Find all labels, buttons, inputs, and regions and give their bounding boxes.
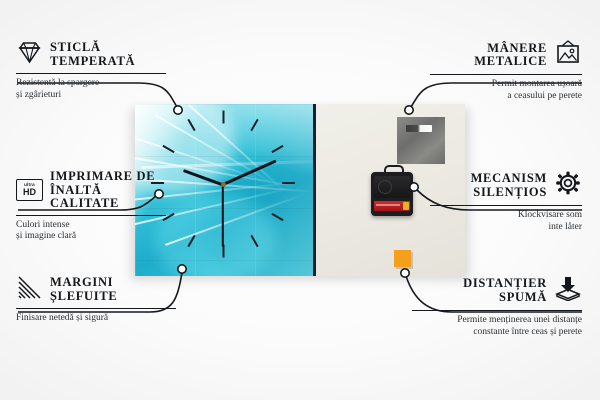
callout-sub-line2: și imagine clară: [16, 231, 166, 243]
gear-icon: [554, 170, 582, 201]
callout-mecanism-silentios: MECANISM SILENȚIOS: [430, 170, 582, 233]
foam-spacer-pad: [394, 250, 411, 267]
ultra-hd-icon: ultra HD: [16, 179, 43, 201]
callout-sub-line2: și zgârieturi: [16, 90, 166, 102]
callout-rule: [16, 73, 166, 74]
callout-distantier-spuma: DISTANȚIER SPUMĂ Permite menținerea unei…: [412, 275, 582, 338]
callout-sub-line1: Rezistentă la spargere: [16, 78, 166, 90]
callout-title-line1: MECANISM: [471, 172, 547, 186]
hd-badge-main: HD: [23, 188, 36, 198]
hanger-loop: [384, 165, 404, 176]
callout-margini-slefuite: MARGINI ȘLEFUITE Finisare netedă și sigu…: [16, 275, 176, 325]
callout-sub-line1: Finisare netedă și sigură: [16, 313, 176, 325]
callout-sub-line2: inte låter: [430, 222, 582, 234]
callout-rule: [16, 308, 176, 309]
callout-sub-line1: Culori intense: [16, 220, 166, 232]
clock-mechanism: [371, 172, 413, 216]
callout-rule: [16, 215, 166, 216]
callout-sub-line2: a ceasului pe perete: [430, 91, 582, 103]
arrow-onto-pad-icon: [554, 275, 582, 306]
callout-sticla-temperata: STICLĂ TEMPERATĂ Rezistentă la spargere …: [16, 40, 166, 101]
callout-title-line1: MARGINI: [50, 276, 117, 290]
infographic-stage: STICLĂ TEMPERATĂ Rezistentă la spargere …: [0, 0, 600, 400]
battery-terminal: [403, 202, 409, 210]
clock-tick: [223, 111, 225, 124]
callout-title-line2: METALICE: [474, 55, 547, 69]
callout-sub-line2: constante între ceas și perete: [412, 327, 582, 339]
hanger-slot: [406, 125, 432, 132]
callout-rule: [430, 205, 582, 206]
clock-tick: [282, 182, 295, 184]
callout-title-line2: SPUMĂ: [463, 291, 547, 305]
callout-title-line1: MÂNERE: [474, 42, 547, 56]
callout-title-line1: IMPRIMARE DE: [50, 170, 166, 184]
battery-stripe: [376, 204, 400, 206]
battery: [374, 201, 410, 211]
callout-title-line2: ÎNALTĂ CALITATE: [50, 184, 166, 211]
callout-sub-line1: Permit montarea ușoară: [430, 79, 582, 91]
callout-title-line2: TEMPERATĂ: [50, 55, 135, 69]
mechanism-dial: [378, 180, 392, 194]
hanging-frame-icon: [554, 40, 582, 70]
mechanism-body: [374, 176, 410, 198]
callout-title-line2: ȘLEFUITE: [50, 290, 117, 304]
callout-title-line1: DISTANȚIER: [463, 277, 547, 291]
callout-manere-metalice: MÂNERE METALICE Permit montarea ușoară a…: [430, 40, 582, 102]
callout-imprimare-inalta-calitate: ultra HD IMPRIMARE DE ÎNALTĂ CALITATE Cu…: [16, 170, 166, 243]
callout-sub-line1: Klockvisare som: [430, 210, 582, 222]
callout-rule: [412, 310, 582, 311]
callout-rule: [430, 74, 582, 75]
hatched-edge-icon: [16, 275, 43, 304]
clock-center-pin: [221, 182, 226, 187]
diamond-icon: [16, 40, 43, 69]
callout-title-line1: STICLĂ: [50, 41, 135, 55]
callout-title-line2: SILENȚIOS: [471, 186, 547, 200]
callout-sub-line1: Permite menținerea unei distanțe: [412, 315, 582, 327]
metal-hanger-plate: [397, 117, 445, 164]
clock-second-hand: [222, 185, 224, 247]
